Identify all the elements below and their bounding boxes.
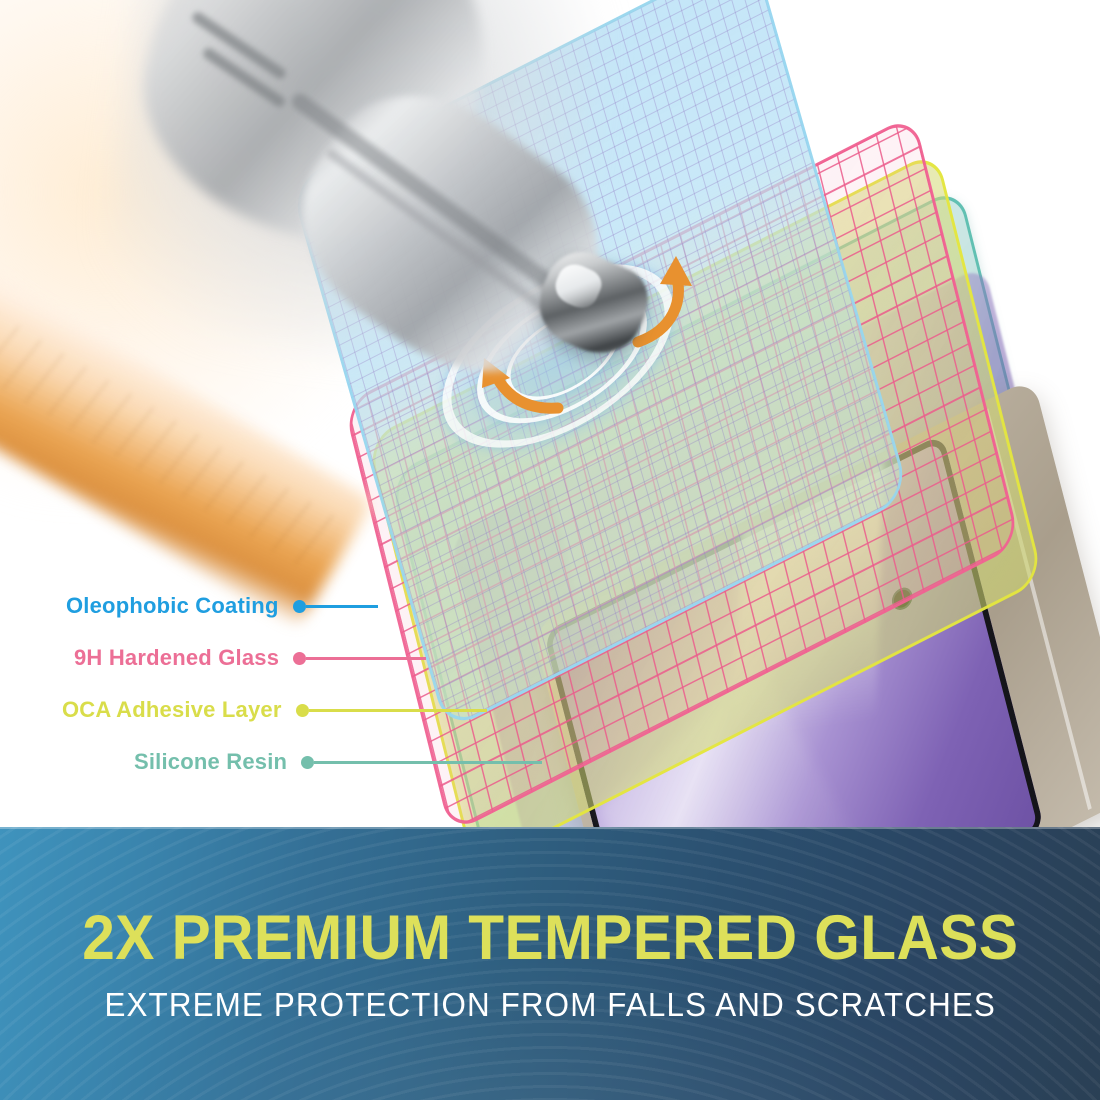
callout-leader-line [306,605,378,608]
callout-9h-hardened-glass: 9H Hardened Glass [74,642,426,674]
promo-image: Oleophobic Coating 9H Hardened Glass OCA… [0,0,1100,1100]
callout-dot-icon [293,600,306,613]
callout-leader-line [309,709,487,712]
callout-leader-line [306,657,426,660]
banner-headline: 2X PREMIUM TEMPERED GLASS [82,907,1018,970]
callout-silicone-resin: Silicone Resin [134,746,542,778]
callout-oleophobic-coating: Oleophobic Coating [66,590,378,622]
callout-dot-icon [296,704,309,717]
hero-product-scene: Oleophobic Coating 9H Hardened Glass OCA… [0,0,1100,827]
layer-callout-labels: Oleophobic Coating 9H Hardened Glass OCA… [0,560,700,800]
callout-leader-line [314,761,542,764]
callout-dot-icon [293,652,306,665]
callout-label-text: Silicone Resin [134,749,287,775]
bottom-banner: 2X PREMIUM TEMPERED GLASS EXTREME PROTEC… [0,827,1100,1100]
callout-label-text: Oleophobic Coating [66,593,279,619]
callout-dot-icon [301,756,314,769]
callout-label-text: 9H Hardened Glass [74,645,279,671]
banner-subheadline: EXTREME PROTECTION FROM FALLS AND SCRATC… [104,988,996,1021]
callout-oca-adhesive-layer: OCA Adhesive Layer [62,694,487,726]
callout-label-text: OCA Adhesive Layer [62,697,282,723]
